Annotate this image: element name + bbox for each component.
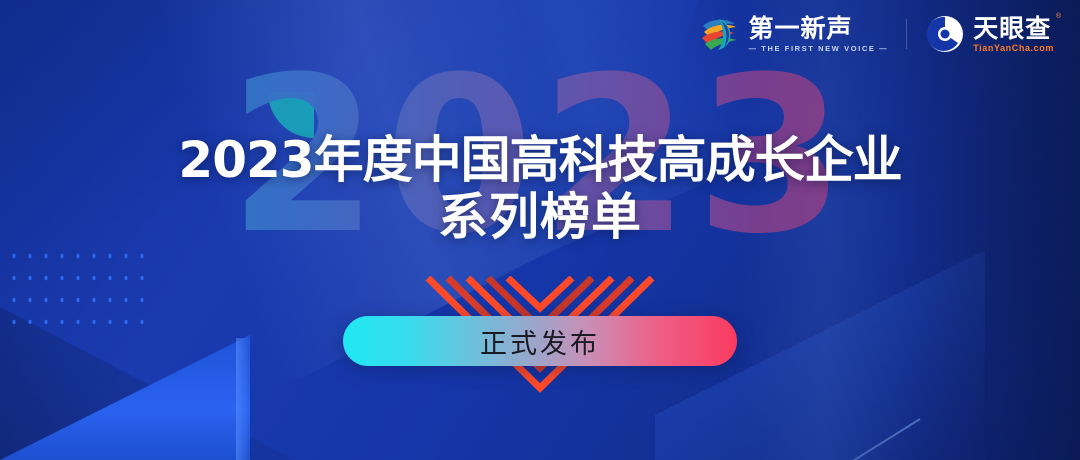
- promo-banner: 2023 2023年度中国高科技高成长企业 系列榜单 正式发布: [0, 0, 1080, 460]
- diyixinsheng-logo-text: 第一新声 — THE FIRST NEW VOICE —: [749, 15, 889, 53]
- background-facet-bottom-left-triangle: [0, 335, 250, 460]
- tianyancha-logo-text: 天眼查 ® TianYanCha.com: [973, 15, 1054, 53]
- tianyancha-logo-icon: [925, 14, 965, 54]
- background-facet-right-vignette: [910, 0, 1080, 460]
- release-status-badge[interactable]: 正式发布: [343, 316, 737, 366]
- headline-line-2: 系列榜单: [0, 188, 1080, 247]
- background-facet-right-edge: [665, 418, 920, 460]
- tianyancha-name-en: TianYanCha.com: [973, 43, 1054, 53]
- background-facet-bottom-left-glow: [236, 338, 250, 460]
- background-facet-mid-sweep: [492, 0, 1048, 460]
- background-facet-top-left-sweep2: [0, 0, 927, 451]
- watermark-year: 2023: [0, 48, 1080, 263]
- headline-line-1: 2023年度中国高科技高成长企业: [0, 132, 1080, 188]
- registered-trademark-icon: ®: [1056, 13, 1061, 20]
- logo-tianyancha[interactable]: 天眼查 ® TianYanCha.com: [925, 14, 1054, 54]
- logo-diyixinsheng[interactable]: 第一新声 — THE FIRST NEW VOICE —: [697, 12, 889, 56]
- tianyancha-name-wrap: 天眼查 ®: [973, 15, 1054, 42]
- dot-grid-decoration: [6, 245, 156, 325]
- page-title: 2023年度中国高科技高成长企业 系列榜单: [0, 132, 1080, 247]
- logo-divider: [906, 19, 907, 49]
- background-facet-teal-accent: [268, 92, 314, 138]
- release-status-label: 正式发布: [480, 322, 600, 361]
- tianyancha-name-cn: 天眼查: [973, 14, 1051, 43]
- background-facet-bottom-left-dark: [0, 290, 420, 460]
- background-facet-right-dark: [613, 0, 1080, 434]
- background-facet-top-left-dark: [0, 0, 520, 432]
- background-facet-top-left-sweep: [0, 0, 745, 460]
- diyixinsheng-logo-icon: [697, 12, 741, 56]
- diyixinsheng-name-cn: 第一新声: [749, 15, 889, 42]
- diyixinsheng-name-en: — THE FIRST NEW VOICE —: [749, 44, 889, 53]
- logo-bar: 第一新声 — THE FIRST NEW VOICE — 天眼查 ®: [697, 12, 1055, 56]
